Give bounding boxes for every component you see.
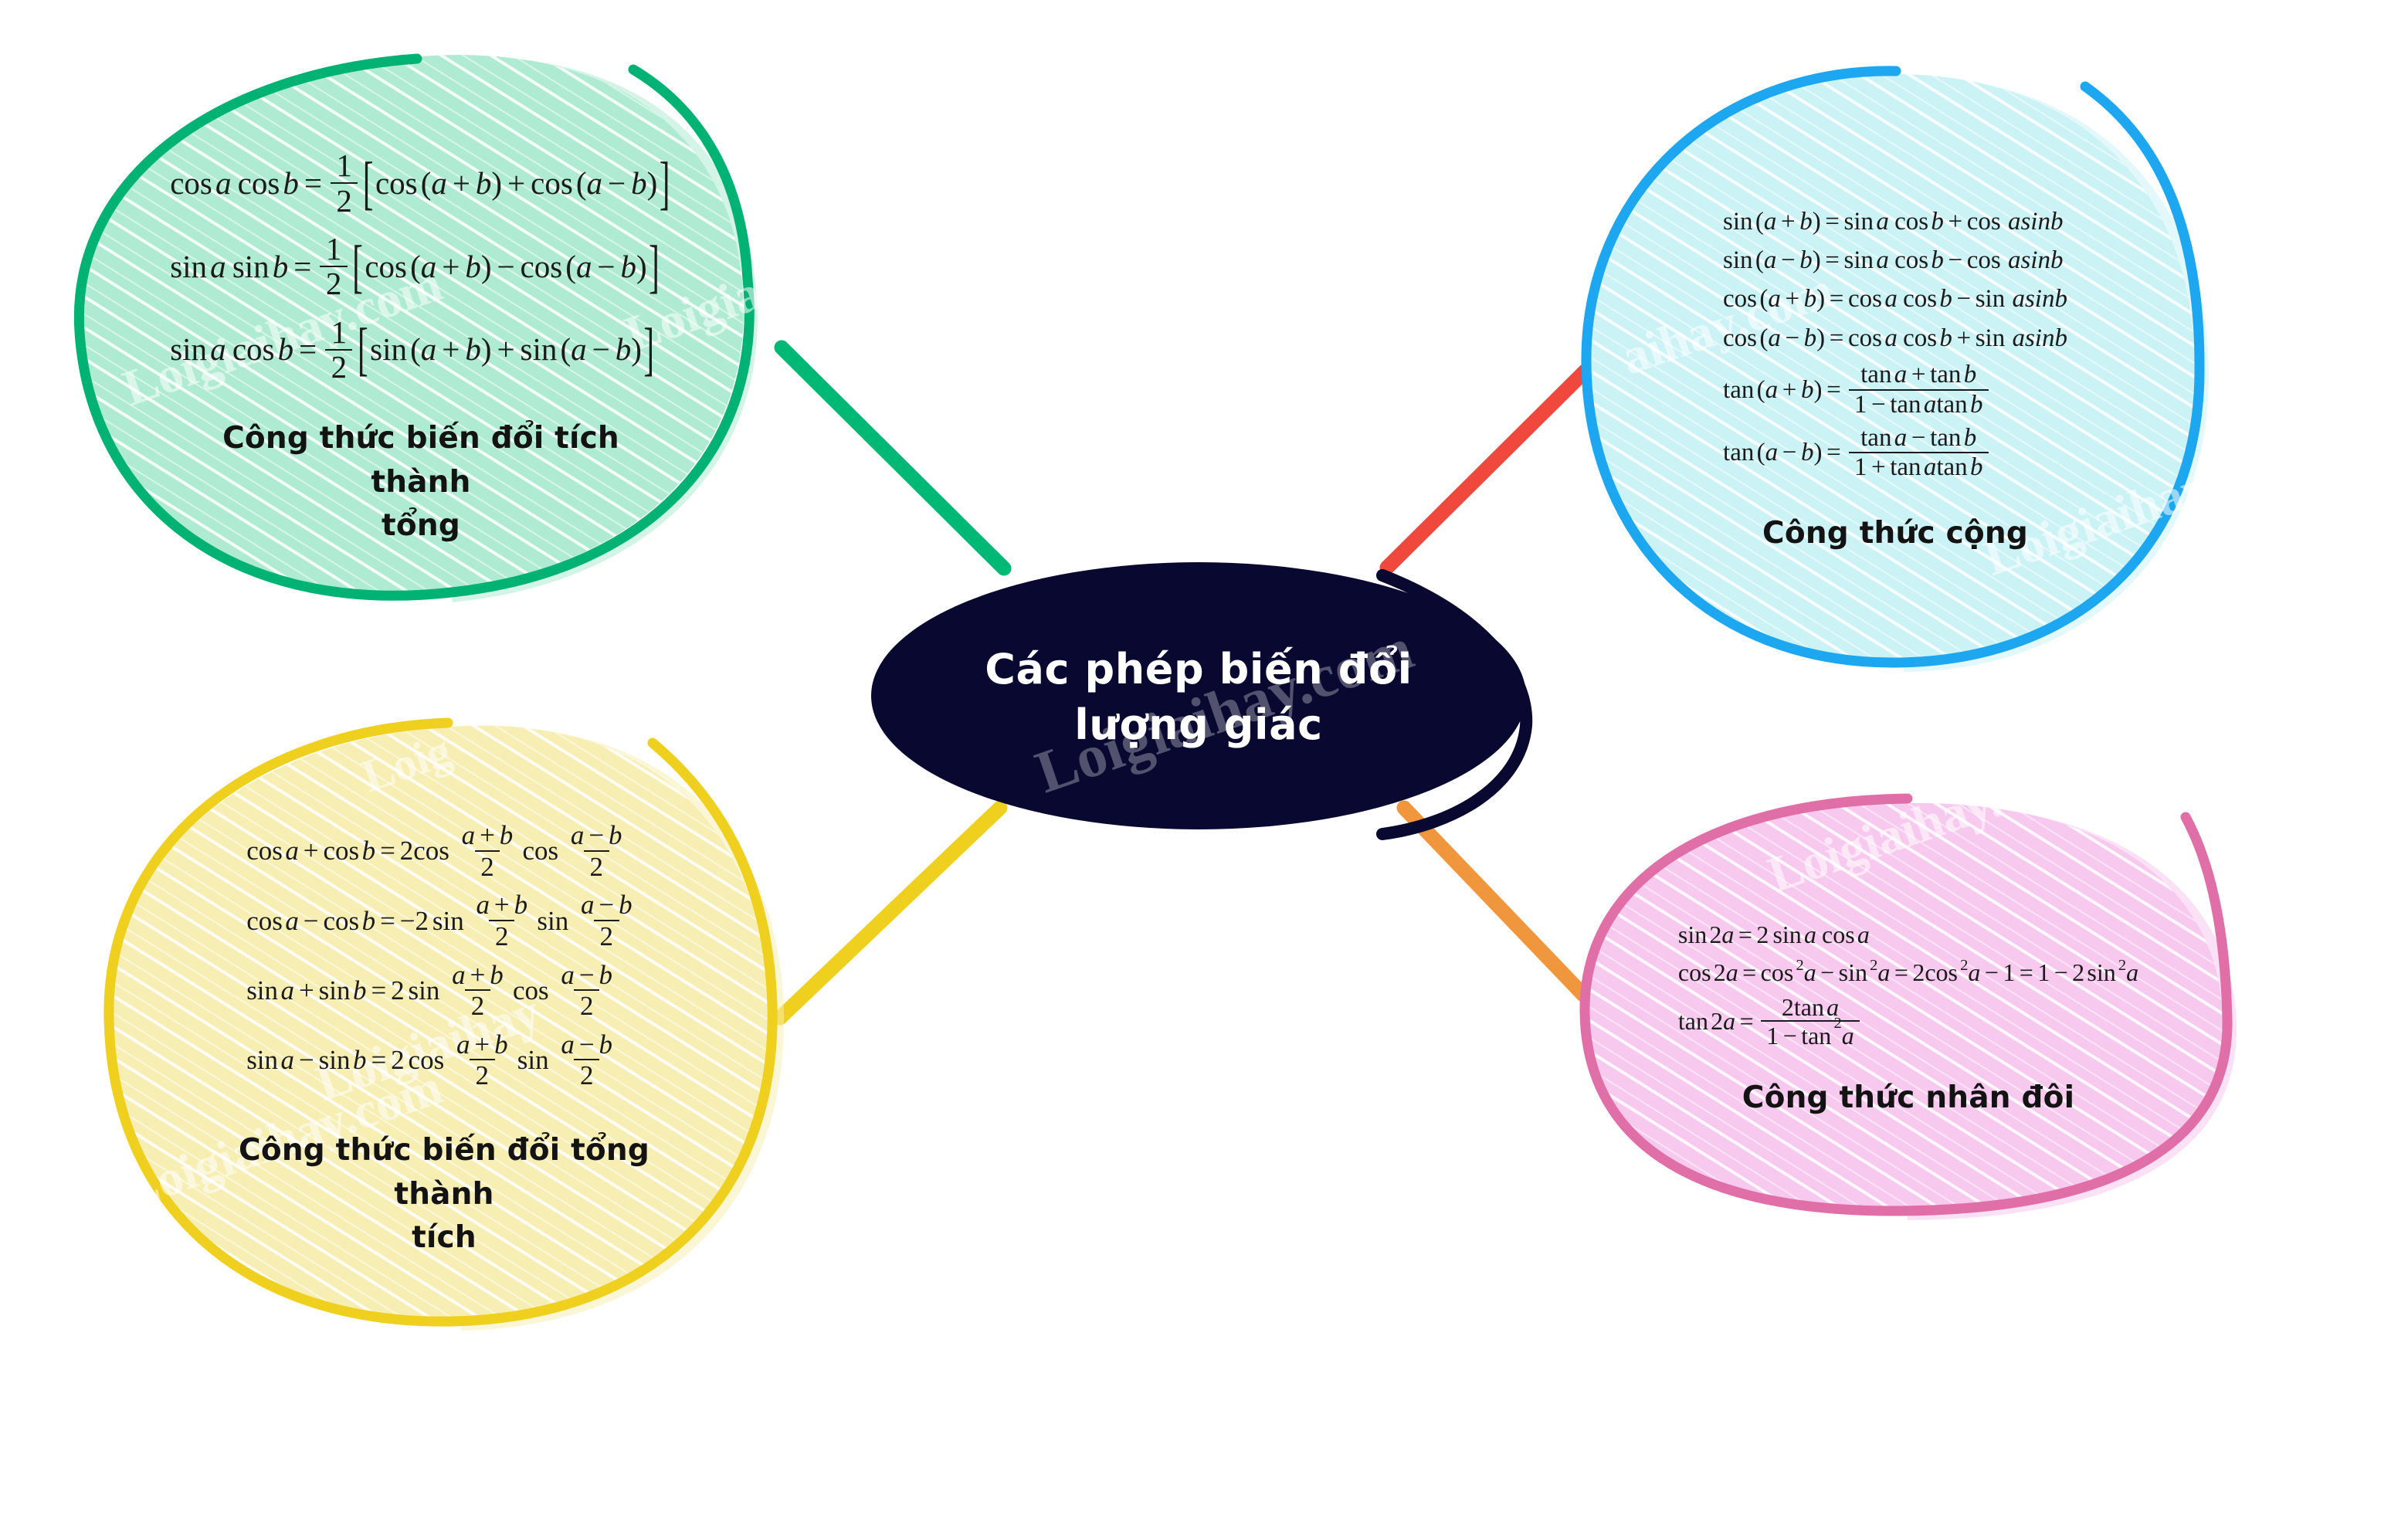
branch-tong-thanh-tich[interactable]: cosa+cosb = 2cos a+b2 cos a−b2 cosa−cosb… — [112, 723, 776, 1325]
label-nhan-doi: Công thức nhân đôi — [1742, 1080, 2074, 1115]
formula-cos-sum: cos(a+b) = cosacosb − sinasinb — [1723, 287, 2067, 312]
formula-sin-sum: sin(a+b) = sinacosb + cosasinb — [1723, 209, 2063, 235]
formula-sin-sin: sinasinb = 12 [ cos(a+b) − cos(a−b) ] — [170, 233, 661, 300]
formulas-cong: sin(a+b) = sinacosb + cosasinb sin(a−b) … — [1723, 209, 2067, 480]
formula-cos-minus-cos: cosa−cosb = −2sin a+b2 sin a−b2 — [246, 891, 642, 949]
connector-tich-thanh-tong — [782, 348, 1004, 568]
connector-cong — [1387, 371, 1586, 568]
label-cong: Công thức cộng — [1762, 516, 2028, 551]
formula-cos-plus-cos: cosa+cosb = 2cos a+b2 cos a−b2 — [246, 822, 632, 880]
formula-tan-diff: tan(a−b) = tana−tanb 1+tanatanb — [1723, 426, 1992, 480]
branch-tich-thanh-tong[interactable]: cosacosb = 12 [ cos(a+b) + cos(a−b) ] si… — [81, 56, 761, 596]
formula-sin-plus-sin: sina+sinb = 2sin a+b2 cos a−b2 — [246, 961, 622, 1019]
formula-cos-diff: cos(a−b) = cosacosb + sinasinb — [1723, 326, 2067, 351]
formula-sin-minus-sin: sina−sinb = 2cos a+b2 sin a−b2 — [246, 1031, 622, 1089]
mind-map-canvas: Loigiaihay.com Loigiaihay aihay.com Loig… — [0, 0, 2408, 1526]
formula-cos-2a: cos2a = cos2a − sin2a = 2cos2a −1 = 1−2s… — [1678, 960, 2138, 985]
formula-cos-cos: cosacosb = 12 [ cos(a+b) + cos(a−b) ] — [170, 150, 672, 216]
branch-cong[interactable]: sin(a+b) = sinacosb + cosasinb sin(a−b) … — [1589, 71, 2201, 666]
label-tong-thanh-tich: Công thức biến đổi tổng thành tích — [205, 1129, 683, 1260]
formula-sin-2a: sin2a = 2sinacosa — [1678, 922, 1870, 947]
connector-tong-thanh-tich — [780, 808, 1000, 1018]
connector-nhan-doi — [1404, 808, 1583, 995]
formulas-tich-thanh-tong: cosacosb = 12 [ cos(a+b) + cos(a−b) ] si… — [170, 150, 672, 383]
label-line-2: tích — [205, 1216, 683, 1260]
label-line-1: Công thức biến đổi tổng thành — [205, 1129, 683, 1216]
formulas-nhan-doi: sin2a = 2sinacosa cos2a = cos2a − sin2a … — [1678, 922, 2138, 1048]
label-line-1: Công thức biến đổi tích thành — [189, 417, 653, 504]
label-line-2: tổng — [189, 504, 653, 548]
formula-tan-sum: tan(a+b) = tana+tanb 1−tanatanb — [1723, 362, 1992, 417]
formula-sin-cos: sinacosb = 12 [ sin(a+b) + sin(a−b) ] — [170, 317, 656, 383]
formulas-tong-thanh-tich: cosa+cosb = 2cos a+b2 cos a−b2 cosa−cosb… — [246, 822, 642, 1089]
branch-nhan-doi[interactable]: sin2a = 2sinacosa cos2a = cos2a − sin2a … — [1588, 800, 2229, 1209]
formula-tan-2a: tan2a = 2tana 1−tan2a — [1678, 995, 1863, 1048]
formula-sin-diff: sin(a−b) = sinacosb − cosasinb — [1723, 248, 2063, 273]
label-tich-thanh-tong: Công thức biến đổi tích thành tổng — [189, 417, 653, 548]
